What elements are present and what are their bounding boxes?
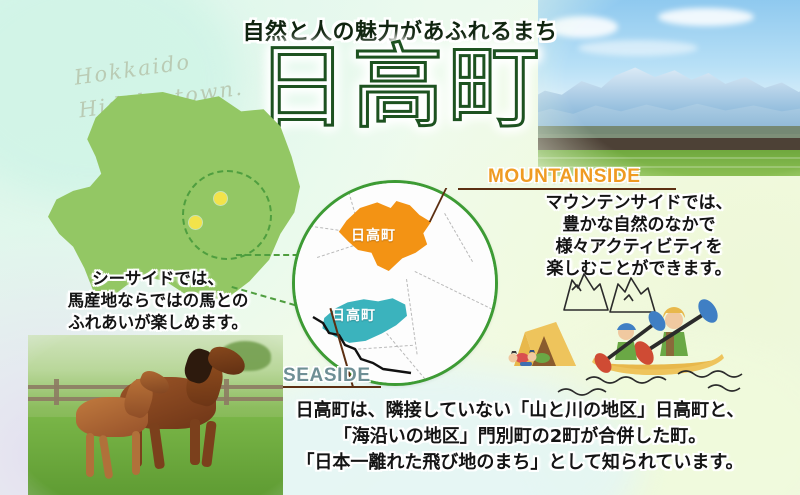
poster-canvas: 自然と人の魅力があふれるまち 日高町 Hokkaido Hidaka town.… bbox=[0, 0, 800, 495]
hokkaido-highlight-circle bbox=[182, 170, 272, 260]
footer-line-2: 「海沿いの地区」門別町の2町が合併した町。 bbox=[248, 424, 792, 450]
foal-leg bbox=[132, 431, 140, 475]
photo-fence-post bbox=[54, 379, 59, 405]
mountain-outline-icon bbox=[564, 274, 655, 312]
inset-label-mountainside: 日高町 bbox=[351, 225, 396, 245]
mountainside-line-2: 豊かな自然のなかで bbox=[508, 214, 770, 236]
seaside-line-2: 馬産地ならではの馬との bbox=[28, 290, 288, 312]
mountainside-line-3: 様々アクティビティを bbox=[508, 236, 770, 258]
inset-circular-map: 日高町 日高町 bbox=[292, 180, 498, 386]
location-dot-mountainside bbox=[214, 192, 227, 205]
seaside-callout: SEASIDE bbox=[283, 365, 371, 387]
footer-line-3: 「日本一離れた飛び地のまち」として知られています。 bbox=[248, 450, 792, 476]
footer-description: 日高町は、隣接していない「山と川の地区」日高町と、 「海沿いの地区」門別町の2町… bbox=[248, 398, 792, 476]
seaside-line-1: シーサイドでは、 bbox=[28, 268, 288, 290]
foal-leg bbox=[86, 433, 94, 477]
mountainside-kicker: MOUNTAINSIDE bbox=[488, 166, 641, 188]
mare-leg bbox=[190, 419, 200, 465]
horse-pasture-photo bbox=[28, 335, 283, 495]
inset-label-seaside: 日高町 bbox=[331, 305, 376, 325]
location-dot-seaside bbox=[189, 216, 202, 229]
mountainside-line-1: マウンテンサイドでは、 bbox=[508, 192, 770, 214]
photo-field-stripe bbox=[538, 157, 800, 159]
mountainside-callout: MOUNTAINSIDE bbox=[488, 166, 641, 188]
activity-illustration bbox=[498, 270, 798, 400]
mountainside-description: マウンテンサイドでは、 豊かな自然のなかで 様々アクティビティを 楽しむことがで… bbox=[508, 192, 770, 280]
mountainside-rule bbox=[458, 188, 676, 190]
seaside-description: シーサイドでは、 馬産地ならではの馬との ふれあいが楽しめます。 bbox=[28, 268, 288, 333]
seaside-kicker: SEASIDE bbox=[283, 365, 371, 387]
photo-fence-post bbox=[224, 379, 229, 405]
footer-line-1: 日高町は、隣接していない「山と川の地区」日高町と、 bbox=[248, 398, 792, 424]
seaside-line-3: ふれあいが楽しめます。 bbox=[28, 312, 288, 334]
